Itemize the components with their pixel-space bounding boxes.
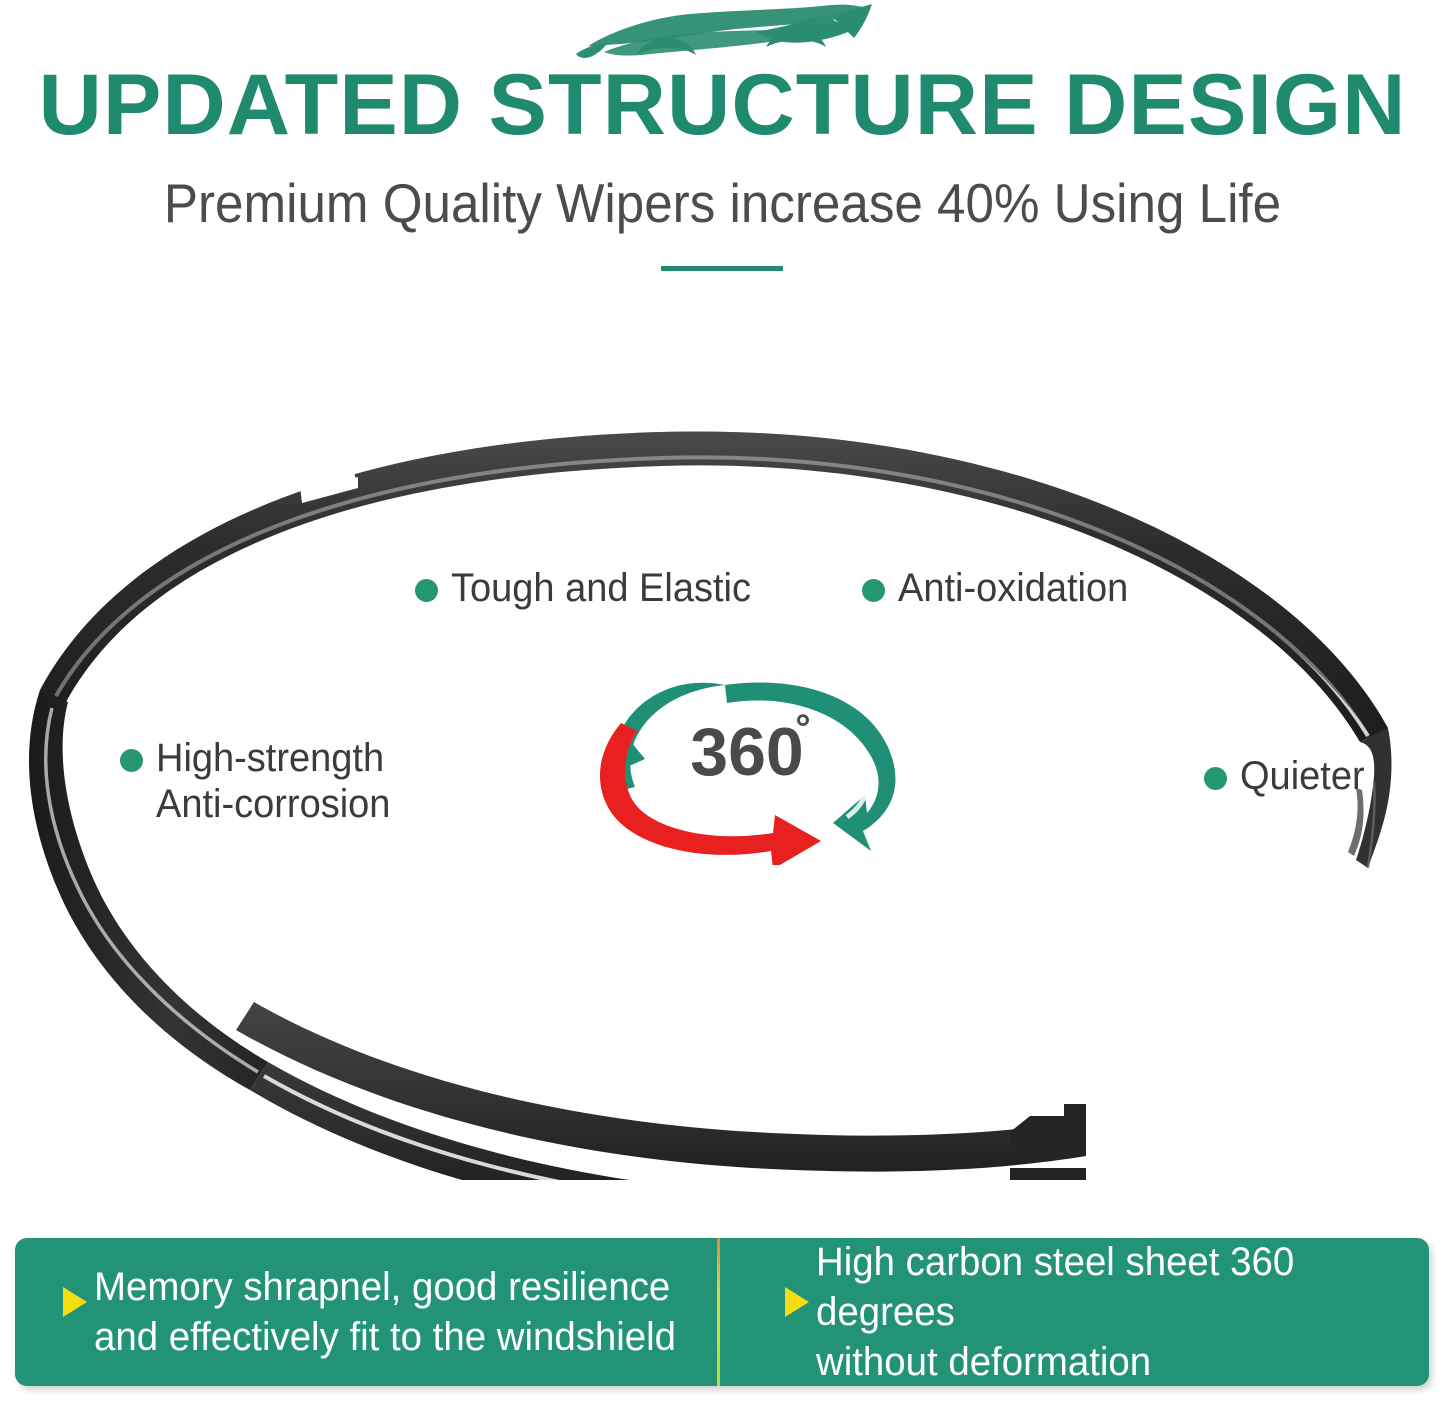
feature-label: Anti-oxidation	[898, 565, 1128, 611]
badge-degree-symbol: °	[795, 708, 810, 750]
feature-label: Quieter	[1240, 753, 1365, 799]
feature-label: High-strength Anti-corrosion	[156, 735, 390, 827]
product-infographic-page: UPDATED STRUCTURE DESIGN Premium Quality…	[0, 0, 1445, 1421]
page-subtitle: Premium Quality Wipers increase 40% Usin…	[51, 172, 1395, 234]
triangle-right-icon	[63, 1287, 87, 1317]
car-silhouette-icon	[570, 2, 890, 64]
feature-anti-oxidation: Anti-oxidation	[862, 565, 1140, 611]
bullet-dot-icon	[120, 749, 143, 772]
feature-quieter: Quieter	[1204, 753, 1371, 799]
bullet-dot-icon	[415, 579, 438, 602]
banner-divider	[717, 1238, 720, 1386]
feature-high-strength-anti-corrosion: High-strength Anti-corrosion	[120, 735, 403, 827]
feature-tough-and-elastic: Tough and Elastic	[415, 565, 767, 611]
banner-cell-high-carbon-steel: High carbon steel sheet 360 degrees with…	[717, 1238, 1419, 1386]
page-title: UPDATED STRUCTURE DESIGN	[0, 58, 1445, 152]
badge-value: 360	[690, 714, 803, 790]
bullet-dot-icon	[1204, 767, 1227, 790]
360-degree-badge: 360 °	[575, 655, 920, 865]
banner-cell-memory-shrapnel: Memory shrapnel, good resilience and eff…	[15, 1238, 717, 1386]
banner-text: Memory shrapnel, good resilience and eff…	[94, 1262, 676, 1362]
triangle-right-icon	[785, 1287, 809, 1317]
banner-text: High carbon steel sheet 360 degrees with…	[816, 1238, 1395, 1386]
title-divider	[661, 266, 783, 271]
bottom-banner: Memory shrapnel, good resilience and eff…	[15, 1238, 1429, 1386]
bullet-dot-icon	[862, 579, 885, 602]
feature-label: Tough and Elastic	[451, 565, 751, 611]
